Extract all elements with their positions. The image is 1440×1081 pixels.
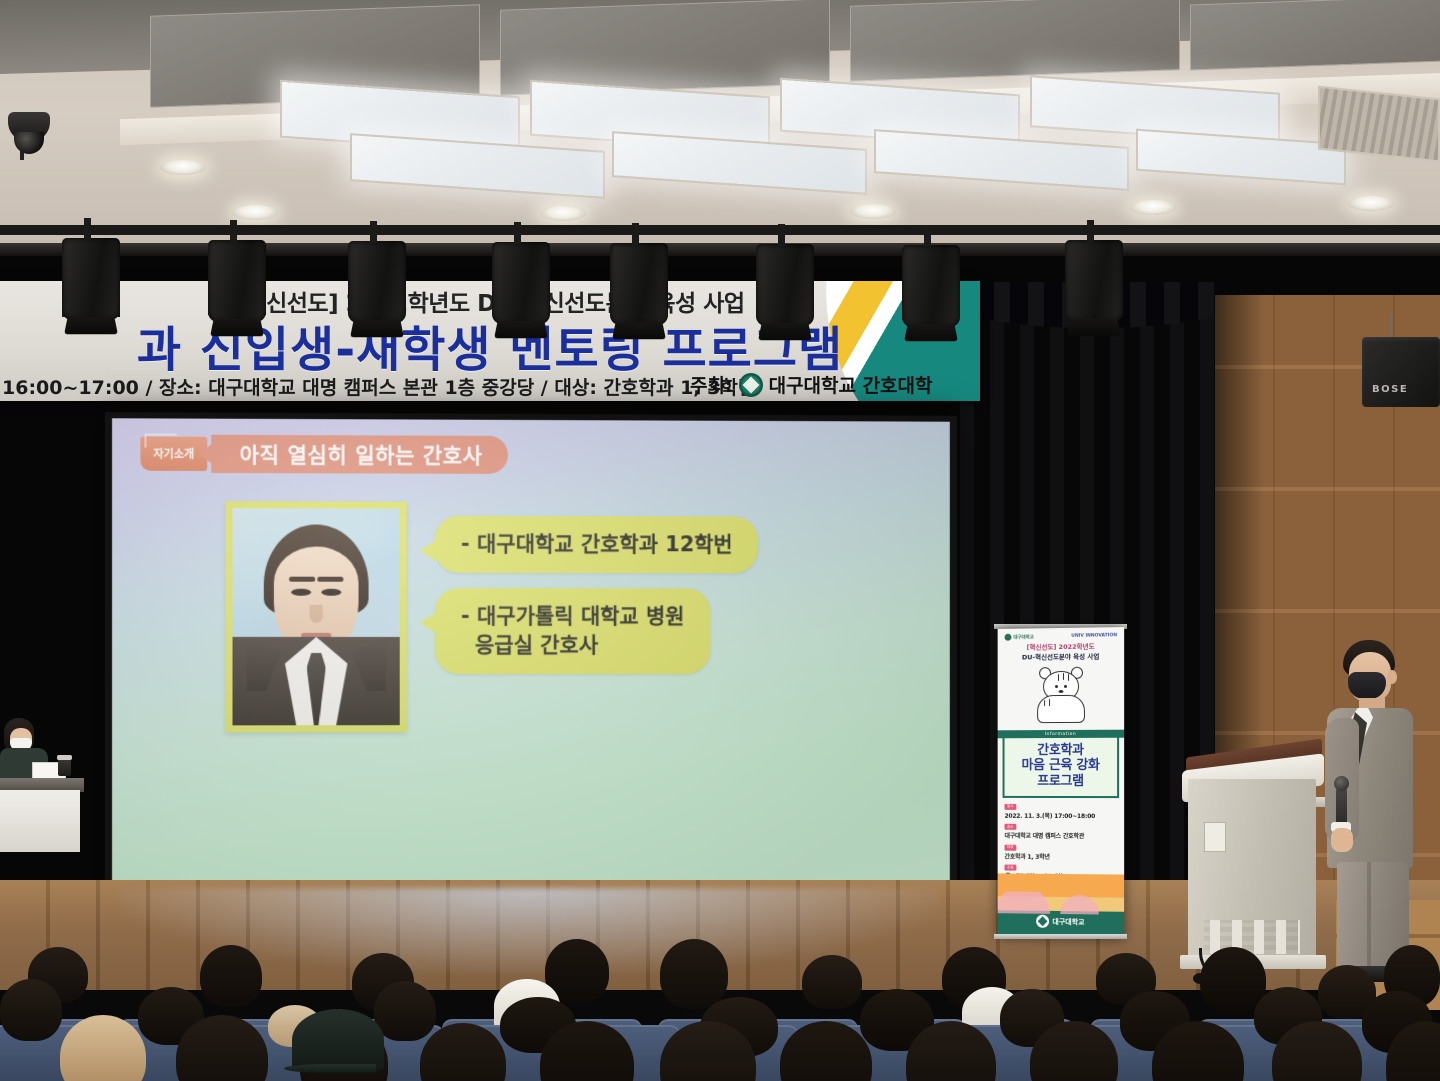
- rollup-info-key: 대상: [1005, 844, 1016, 850]
- rollup-logo-left-text: 대구대학교: [1013, 634, 1033, 640]
- rollup-info-value: 간호학과 1, 3학년: [1005, 851, 1118, 861]
- rollup-info-row: 장소 대구대학교 대명 캠퍼스 간호학관: [1005, 822, 1118, 840]
- portrait-eye-left: [291, 589, 311, 596]
- ceiling-light-panel: [350, 133, 605, 199]
- rollup-info-row: 일시 2022. 11. 3.(목) 17:00~18:00: [1005, 802, 1118, 820]
- tiger-mascot-icon: [998, 665, 1125, 730]
- auditorium-photo: BOSE [혁신선도] 2022학년도 DU-혁신선도분야 육성 사업 과 신입…: [0, 0, 1440, 1081]
- ceiling-light-panel: [1136, 129, 1346, 186]
- audience-head: [374, 981, 436, 1041]
- bose-speaker-label: BOSE: [1372, 384, 1408, 395]
- rollup-logo-left: 대구대학교: [1005, 633, 1034, 640]
- rollup-info-value: 2022. 11. 3.(목) 17:00~18:00: [1005, 810, 1118, 819]
- rollup-title: 간호학과 마음 근육 강화 프로그램: [1003, 737, 1120, 798]
- rollup-header: [혁신선도] 2022학년도 DU-혁신선도분야 육성 사업: [998, 641, 1125, 666]
- ceiling-downlight: [232, 205, 278, 220]
- side-table-front: [0, 790, 80, 852]
- tiger-graphic: [1033, 670, 1089, 724]
- audience-head: [802, 955, 862, 1009]
- bose-speaker: BOSE: [1362, 337, 1440, 407]
- rollup-header-line2: DU-혁신선도분야 육성 사업: [1002, 652, 1121, 663]
- tiger-body: [1037, 694, 1085, 722]
- tiger-stripe: [1044, 700, 1046, 706]
- daegu-university-logo-icon: [1037, 915, 1050, 928]
- portrait-photo: [225, 501, 406, 732]
- ceiling-downlight: [160, 160, 206, 175]
- tiger-eye-right: [1063, 684, 1066, 687]
- tiger-stripe: [1058, 674, 1060, 681]
- banner-title: 과 신입생-재학생 멘토링 프로그램: [0, 310, 980, 380]
- stage-light: [492, 242, 550, 324]
- stage-light: [1065, 240, 1123, 322]
- tiger-stripe: [1049, 699, 1051, 706]
- presenter-ear: [1387, 670, 1397, 684]
- slide-title: 아직 열심히 일하는 간호사: [211, 435, 508, 474]
- rollup-footer-logo: 대구대학교: [998, 914, 1125, 929]
- rollup-info-value: 대구대학교 대명 캠퍼스 간호학관: [1005, 831, 1118, 841]
- portrait-eyebrow-left: [289, 577, 315, 582]
- ceiling-downlight: [1130, 200, 1176, 215]
- daegu-university-logo-icon: [739, 373, 763, 397]
- light-bar: [0, 225, 1440, 235]
- slide-bullet-line: - 대구가톨릭 대학교 병원: [461, 602, 684, 631]
- tiger-stripe: [1067, 673, 1069, 680]
- rollup-logo-right: UNIV INNOVATION: [1071, 633, 1117, 639]
- stage-banner: [혁신선도] 2022학년도 DU-혁신선도분야 육성 사업 과 신입생-재학생…: [0, 281, 980, 401]
- ceiling: [0, 0, 1440, 278]
- rollup-banner: 대구대학교 UNIV INNOVATION [혁신선도] 2022학년도 DU-…: [998, 627, 1125, 939]
- tiger-nose: [1058, 689, 1063, 692]
- presenter: [1315, 640, 1423, 980]
- podium-control-panel: [1204, 822, 1226, 852]
- ceiling-light-panel: [874, 129, 1129, 191]
- stage-light: [208, 240, 266, 322]
- ceiling-light-panel: [612, 131, 867, 195]
- stage-light: [348, 241, 406, 323]
- ceiling-downlight: [850, 204, 896, 219]
- presentation-slide: 자기소개 아직 열심히 일하는 간호사: [112, 418, 950, 885]
- coffee-cup: [58, 758, 71, 776]
- presenter-face-mask: [1348, 672, 1386, 699]
- speaker-hanger: [1390, 312, 1392, 338]
- ceiling-tile: [1190, 0, 1440, 71]
- audience-black-cap: [292, 1009, 384, 1071]
- portrait-nose: [310, 605, 323, 623]
- daegu-university-logo-icon: [1005, 634, 1012, 641]
- ceiling-tile: [850, 0, 1180, 82]
- rollup-title-line3: 프로그램: [1006, 774, 1115, 790]
- stage-light: [756, 244, 814, 326]
- slide-bullet-bubble: - 대구대학교 간호학과 12학번: [435, 516, 759, 574]
- portrait-image: [233, 508, 400, 725]
- stage-light: [902, 245, 960, 327]
- presenter-hand: [1331, 828, 1353, 852]
- tiger-eye-left: [1055, 685, 1058, 688]
- slide-bullet-line: 응급실 간호사: [461, 631, 684, 660]
- rollup-title-line2: 마음 근육 강화: [1006, 758, 1115, 774]
- rollup-info-row: 대상 간호학과 1, 3학년: [1005, 843, 1118, 861]
- audience-head: [660, 939, 728, 1009]
- rollup-info-key: 장소: [1005, 824, 1016, 830]
- ceiling-air-vent: [1318, 86, 1440, 163]
- slide-bullet-bubble: - 대구가톨릭 대학교 병원 응급실 간호사: [435, 588, 710, 674]
- projection-screen-frame: 자기소개 아직 열심히 일하는 간호사: [105, 412, 957, 900]
- ceiling-downlight: [1348, 196, 1394, 211]
- audience-head: [0, 979, 62, 1041]
- rollup-info-key: 주최: [1005, 865, 1016, 871]
- rollup-title-line1: 간호학과: [1006, 742, 1115, 758]
- banner-host: 주최: 대구대학교 간호대학: [690, 371, 933, 398]
- portrait-eyebrow-right: [317, 577, 343, 582]
- security-camera-icon: [8, 112, 50, 142]
- banner-details: 16:00~17:00 / 장소: 대구대학교 대명 캠퍼스 본관 1층 중강당…: [0, 373, 700, 400]
- ceiling-downlight: [540, 206, 586, 221]
- audience-head: [200, 945, 262, 1007]
- rollup-footer-logo-text: 대구대학교: [1052, 916, 1084, 926]
- rollup-info-key: 일시: [1005, 803, 1016, 809]
- portrait-eye-right: [321, 589, 341, 596]
- stage-light: [62, 238, 120, 320]
- audience: [0, 930, 1440, 1081]
- stage-light: [610, 243, 668, 325]
- banner-host-name: 대구대학교 간호대학: [769, 371, 933, 398]
- tiger-stripe: [1062, 672, 1064, 679]
- banner-host-label: 주최:: [690, 371, 733, 398]
